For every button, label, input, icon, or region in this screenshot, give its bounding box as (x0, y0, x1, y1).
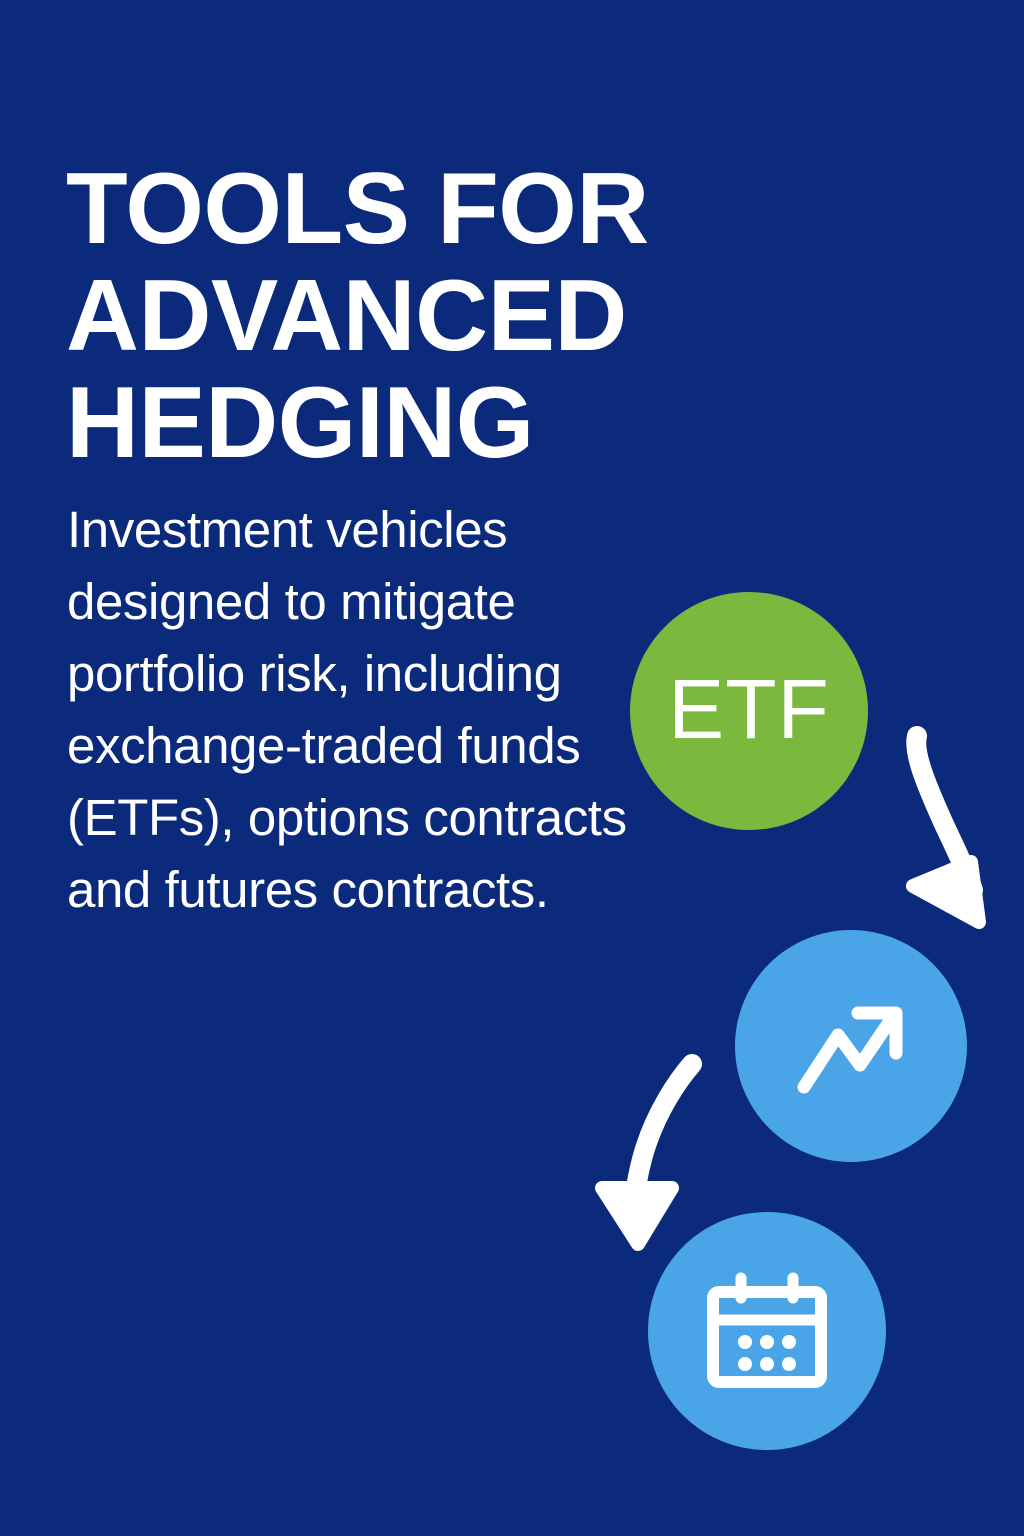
curved-arrow-down-icon (895, 722, 995, 952)
etf-label: ETF (668, 667, 830, 751)
calendar-icon (705, 1272, 829, 1390)
page-title: TOOLS FOR ADVANCED HEDGING (66, 156, 686, 477)
flow-node-trend (735, 930, 967, 1162)
body-description: Investment vehicles designed to mitigate… (67, 494, 647, 926)
flow-node-etf: ETF (630, 592, 868, 830)
curved-arrow-down-icon (590, 1048, 715, 1258)
flow-node-calendar (648, 1212, 886, 1450)
trending-up-arrow-icon (788, 983, 914, 1109)
infographic-poster: TOOLS FOR ADVANCED HEDGING Investment ve… (0, 0, 1024, 1536)
